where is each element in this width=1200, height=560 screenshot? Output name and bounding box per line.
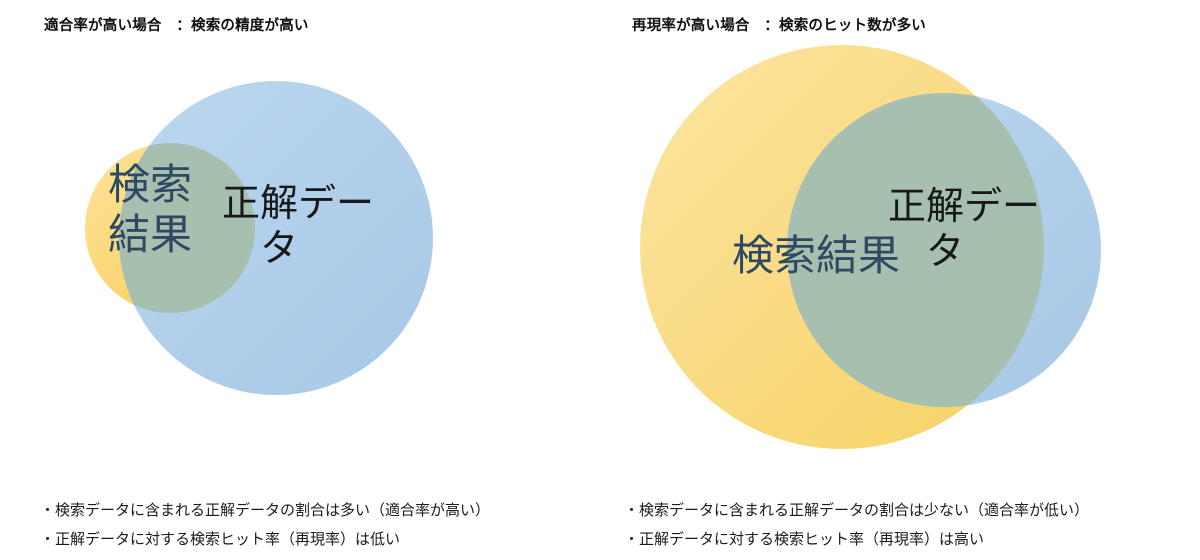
- bullet-list-recall: ・検索データに含まれる正解データの割合は少ない（適合率が低い） ・正解データに対…: [624, 496, 1089, 555]
- venn-diagram-recall: [600, 0, 1200, 470]
- panel-precision: 適合率が高い場合 ：検索の精度が高い: [0, 0, 600, 560]
- bullet-list-precision: ・検索データに含まれる正解データの割合は多い（適合率が高い） ・正解データに対す…: [40, 496, 490, 555]
- panel-recall: 再現率が高い場合 ：検索のヒット数が多い: [600, 0, 1200, 560]
- bullet-item: ・検索データに含まれる正解データの割合は多い（適合率が高い）: [40, 496, 490, 525]
- bullet-item: ・正解データに対する検索ヒット率（再現率）は低い: [40, 525, 490, 554]
- bullet-item: ・正解データに対する検索ヒット率（再現率）は高い: [624, 525, 1089, 554]
- venn-diagram-precision: [0, 0, 600, 470]
- bullet-item: ・検索データに含まれる正解データの割合は少ない（適合率が低い）: [624, 496, 1089, 525]
